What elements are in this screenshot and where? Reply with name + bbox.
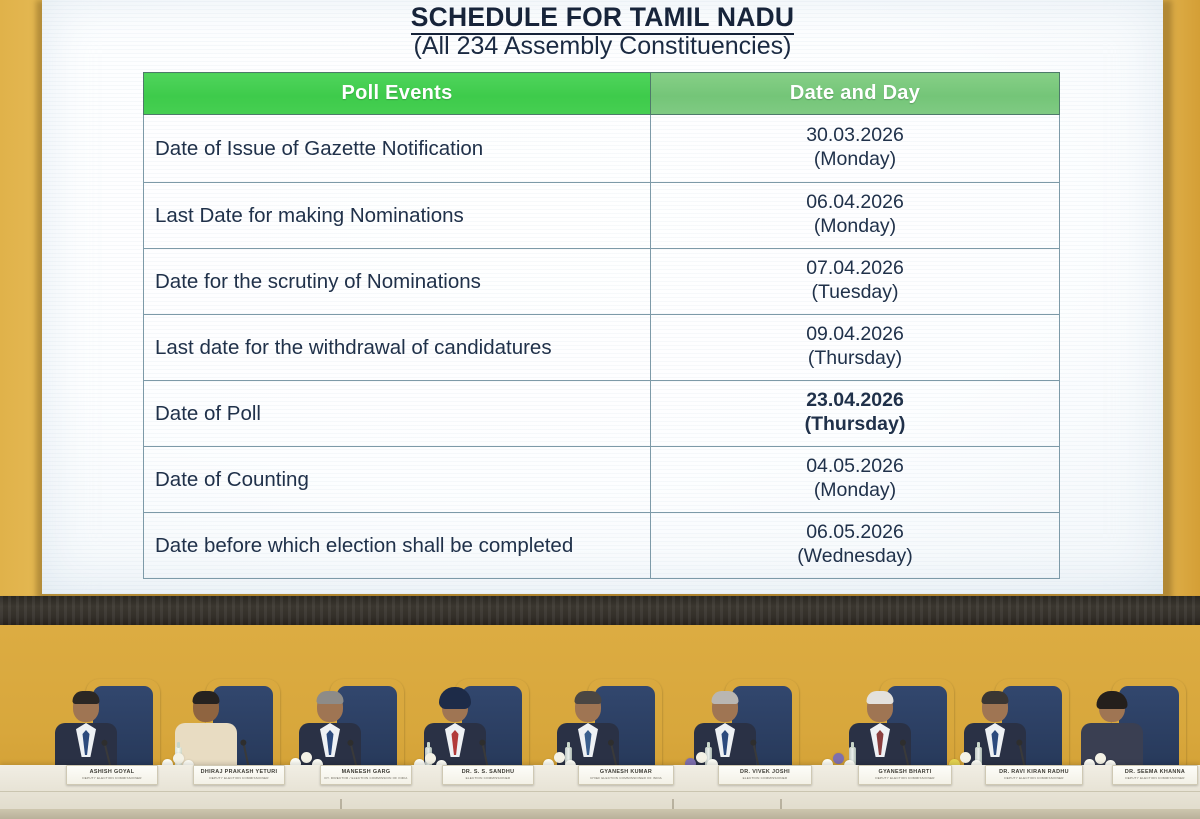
cell-poll-event: Last date for the withdrawal of candidat…: [144, 315, 651, 381]
column-header-date-and-day: Date and Day: [651, 73, 1060, 115]
wall-trim-band: [0, 596, 1200, 626]
cell-poll-event: Date before which election shall be comp…: [144, 513, 651, 579]
date-value: 23.04.2026: [651, 389, 1059, 413]
cell-date-and-day: 04.05.2026 (Monday): [651, 447, 1060, 513]
day-value: (Monday): [651, 215, 1059, 239]
nameplate-role: CHIEF ELECTION COMMISSIONER OF INDIA: [590, 777, 662, 781]
nameplate-role: DEPUTY ELECTION COMMISSIONER: [209, 777, 268, 781]
day-value: (Thursday): [651, 413, 1059, 437]
table-row-date-of-poll: Date of Poll 23.04.2026 (Thursday): [144, 381, 1060, 447]
schedule-table: Poll Events Date and Day Date of Issue o…: [143, 72, 1060, 579]
table-row: Last Date for making Nominations 06.04.2…: [144, 183, 1060, 249]
nameplate-dr-vivek-joshi: DR. VIVEK JOSHI ELECTION COMMISSIONER: [718, 765, 812, 785]
slide-title-text: SCHEDULE FOR TAMIL NADU: [411, 2, 794, 35]
nameplate-role: DEPUTY ELECTION COMMISSIONER: [1125, 777, 1184, 781]
cell-date-and-day: 07.04.2026 (Tuesday): [651, 249, 1060, 315]
nameplate-role: ELECTION COMMISSIONER: [466, 777, 511, 781]
cell-date-and-day: 06.05.2026 (Wednesday): [651, 513, 1060, 579]
nameplate-role: DEPUTY ELECTION COMMISSIONER: [875, 777, 934, 781]
table-row: Date of Issue of Gazette Notification 30…: [144, 115, 1060, 183]
person-figure: [849, 692, 911, 767]
date-value: 07.04.2026: [651, 257, 1059, 281]
table-row: Last date for the withdrawal of candidat…: [144, 315, 1060, 381]
cell-poll-event: Date of Counting: [144, 447, 651, 513]
nameplate-role: DEPUTY ELECTION COMMISSIONER: [1004, 777, 1063, 781]
date-value: 04.05.2026: [651, 455, 1059, 479]
date-value: 06.04.2026: [651, 191, 1059, 215]
cell-date-and-day: 09.04.2026 (Thursday): [651, 315, 1060, 381]
nameplate-name: DR. S. S. SANDHU: [462, 770, 515, 775]
day-value: (Tuesday): [651, 281, 1059, 305]
table-row: Date before which election shall be comp…: [144, 513, 1060, 579]
nameplate-dr-s-s-sandhu: DR. S. S. SANDHU ELECTION COMMISSIONER: [442, 765, 534, 785]
nameplate-name: DR. SEEMA KHANNA: [1125, 770, 1185, 775]
day-value: (Thursday): [651, 347, 1059, 371]
cell-poll-event: Date of Issue of Gazette Notification: [144, 115, 651, 183]
nameplate-name: MANEESH GARG: [342, 770, 391, 775]
nameplate-name: DR. RAVI KIRAN RADHU: [999, 770, 1069, 775]
nameplate-gyanesh-kumar: GYANESH KUMAR CHIEF ELECTION COMMISSIONE…: [578, 765, 674, 785]
nameplate-role: DY. DIRECTOR / ELECTION COMMISSION OF IN…: [325, 777, 408, 781]
table-row: Date for the scrutiny of Nominations 07.…: [144, 249, 1060, 315]
nameplate-role: DEPUTY ELECTION COMMISSIONER: [82, 777, 141, 781]
table-row: Date of Counting 04.05.2026 (Monday): [144, 447, 1060, 513]
projection-screen: SCHEDULE FOR TAMIL NADU (All 234 Assembl…: [42, 0, 1163, 594]
cell-poll-event: Date for the scrutiny of Nominations: [144, 249, 651, 315]
nameplate-name: GYANESH KUMAR: [600, 770, 652, 775]
column-header-poll-events: Poll Events: [144, 73, 651, 115]
date-value: 09.04.2026: [651, 323, 1059, 347]
table-header-row: Poll Events Date and Day: [144, 73, 1060, 115]
presentation-slide: SCHEDULE FOR TAMIL NADU (All 234 Assembl…: [42, 0, 1163, 594]
auditorium-stage: SCHEDULE FOR TAMIL NADU (All 234 Assembl…: [0, 0, 1200, 819]
nameplate-name: DHIRAJ PRAKASH YETURI: [201, 770, 278, 775]
cell-poll-event: Date of Poll: [144, 381, 651, 447]
nameplate-dr-seema-khanna: DR. SEEMA KHANNA DEPUTY ELECTION COMMISS…: [1112, 765, 1198, 785]
nameplate-dr-ravi-kiran-radhu: DR. RAVI KIRAN RADHU DEPUTY ELECTION COM…: [985, 765, 1083, 785]
slide-subtitle: (All 234 Assembly Constituencies): [42, 32, 1163, 61]
date-value: 06.05.2026: [651, 521, 1059, 545]
nameplate-role: ELECTION COMMISSIONER: [743, 777, 788, 781]
cell-date-and-day: 30.03.2026 (Monday): [651, 115, 1060, 183]
nameplate-name: GYANESH BHARTI: [879, 770, 932, 775]
nameplate-name: DR. VIVEK JOSHI: [740, 770, 790, 775]
day-value: (Monday): [651, 148, 1059, 172]
nameplate-gyanesh-bharti: GYANESH BHARTI DEPUTY ELECTION COMMISSIO…: [858, 765, 952, 785]
nameplate-ashish-goyal: ASHISH GOYAL DEPUTY ELECTION COMMISSIONE…: [66, 765, 158, 785]
nameplate-maneesh-garg: MANEESH GARG DY. DIRECTOR / ELECTION COM…: [320, 765, 412, 785]
day-value: (Wednesday): [651, 545, 1059, 569]
cell-poll-event: Last Date for making Nominations: [144, 183, 651, 249]
cell-date-and-day: 23.04.2026 (Thursday): [651, 381, 1060, 447]
date-value: 30.03.2026: [651, 124, 1059, 148]
dais-panel: ASHISH GOYAL DEPUTY ELECTION COMMISSIONE…: [0, 625, 1200, 819]
nameplate-dhiraj-prakash-yeturi: DHIRAJ PRAKASH YETURI DEPUTY ELECTION CO…: [193, 765, 285, 785]
cell-date-and-day: 06.04.2026 (Monday): [651, 183, 1060, 249]
slide-title: SCHEDULE FOR TAMIL NADU: [42, 2, 1163, 33]
nameplate-name: ASHISH GOYAL: [90, 770, 135, 775]
day-value: (Monday): [651, 479, 1059, 503]
